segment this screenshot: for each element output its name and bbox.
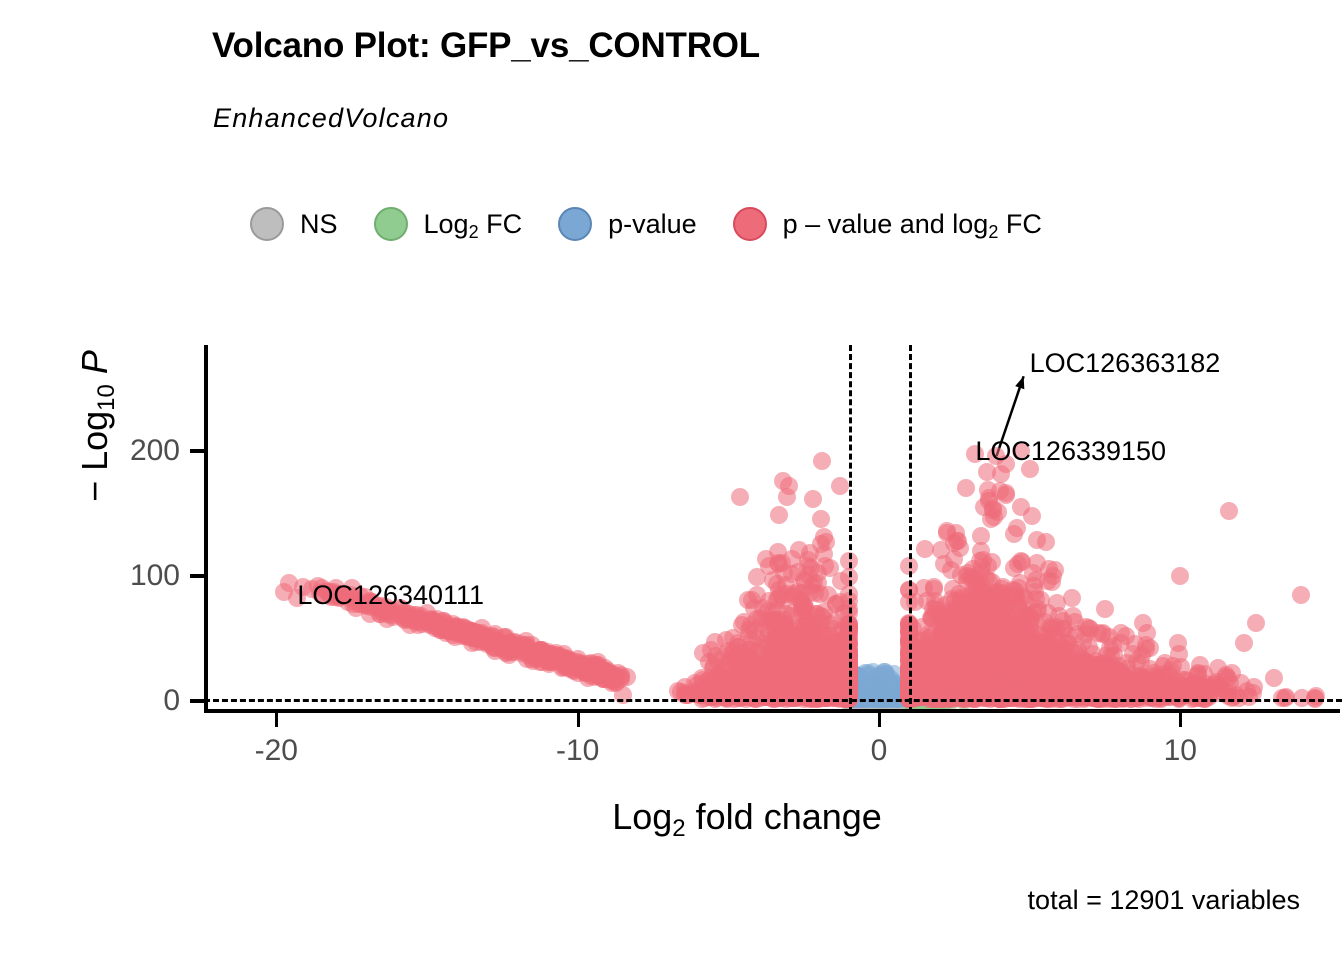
scatter-point	[1265, 669, 1283, 687]
legend-item-2[interactable]: p-value	[558, 207, 697, 241]
scatter-point	[1127, 675, 1145, 693]
scatter-point	[971, 552, 989, 570]
legend-item-0[interactable]: NS	[250, 207, 338, 241]
scatter-point	[740, 654, 758, 672]
scatter-point	[925, 578, 943, 596]
scatter-point	[812, 510, 830, 528]
scatter-point	[735, 613, 753, 631]
scatter-point	[1062, 682, 1080, 700]
scatter-point	[790, 541, 808, 559]
scatter-point	[777, 585, 795, 603]
scatter-point	[1191, 656, 1209, 674]
scatter-point	[1056, 640, 1074, 658]
page-title: Volcano Plot: GFP_vs_CONTROL	[212, 26, 760, 66]
scatter-point	[785, 671, 803, 689]
scatter-point	[983, 573, 1001, 591]
scatter-point	[1008, 519, 1026, 537]
legend-item-3[interactable]: p – value and log2 FC	[733, 207, 1042, 241]
scatter-point	[783, 565, 801, 583]
legend-swatch-icon	[250, 207, 284, 241]
plot-panel	[204, 345, 1340, 712]
legend-swatch-icon	[374, 207, 408, 241]
scatter-point	[997, 484, 1015, 502]
scatter-point	[1054, 612, 1072, 630]
scatter-point	[876, 663, 894, 681]
scatter-point	[935, 555, 953, 573]
legend-item-label: Log2 FC	[424, 211, 523, 238]
scatter-point	[940, 654, 958, 672]
scatter-point	[821, 559, 839, 577]
legend-item-1[interactable]: Log2 FC	[374, 207, 523, 241]
scatter-point	[1012, 498, 1030, 516]
legend: NSLog2 FCp-valuep – value and log2 FC	[250, 198, 1042, 250]
scatter-point	[1035, 677, 1053, 695]
scatter-point	[750, 680, 768, 698]
scatter-point	[831, 593, 849, 611]
scatter-point	[1005, 559, 1023, 577]
scatter-point	[777, 623, 795, 641]
legend-swatch-icon	[558, 207, 592, 241]
legend-item-label: p-value	[608, 211, 697, 238]
scatter-point	[1096, 600, 1114, 618]
scatter-point	[1160, 688, 1178, 706]
scatter-point	[960, 688, 978, 706]
scatter-point	[1104, 637, 1122, 655]
scatter-point	[957, 479, 975, 497]
scatter-point	[714, 680, 732, 698]
scatter-point	[1277, 688, 1295, 706]
scatter-point	[1209, 659, 1227, 677]
scatter-point	[770, 506, 788, 524]
scatter-point	[1007, 649, 1025, 667]
scatter-point	[980, 489, 998, 507]
scatter-point	[1134, 614, 1152, 632]
volcano-plot-figure: Volcano Plot: GFP_vs_CONTROL EnhancedVol…	[0, 0, 1344, 960]
plot-subtitle: EnhancedVolcano	[213, 103, 449, 134]
legend-swatch-icon	[733, 207, 767, 241]
scatter-point	[748, 586, 766, 604]
legend-item-label: NS	[300, 211, 338, 238]
legend-item-label: p – value and log2 FC	[783, 211, 1042, 238]
scatter-point	[991, 682, 1009, 700]
scatter-point	[1141, 639, 1159, 657]
scatter-point	[769, 689, 787, 707]
scatter-points-layer	[204, 345, 1340, 712]
